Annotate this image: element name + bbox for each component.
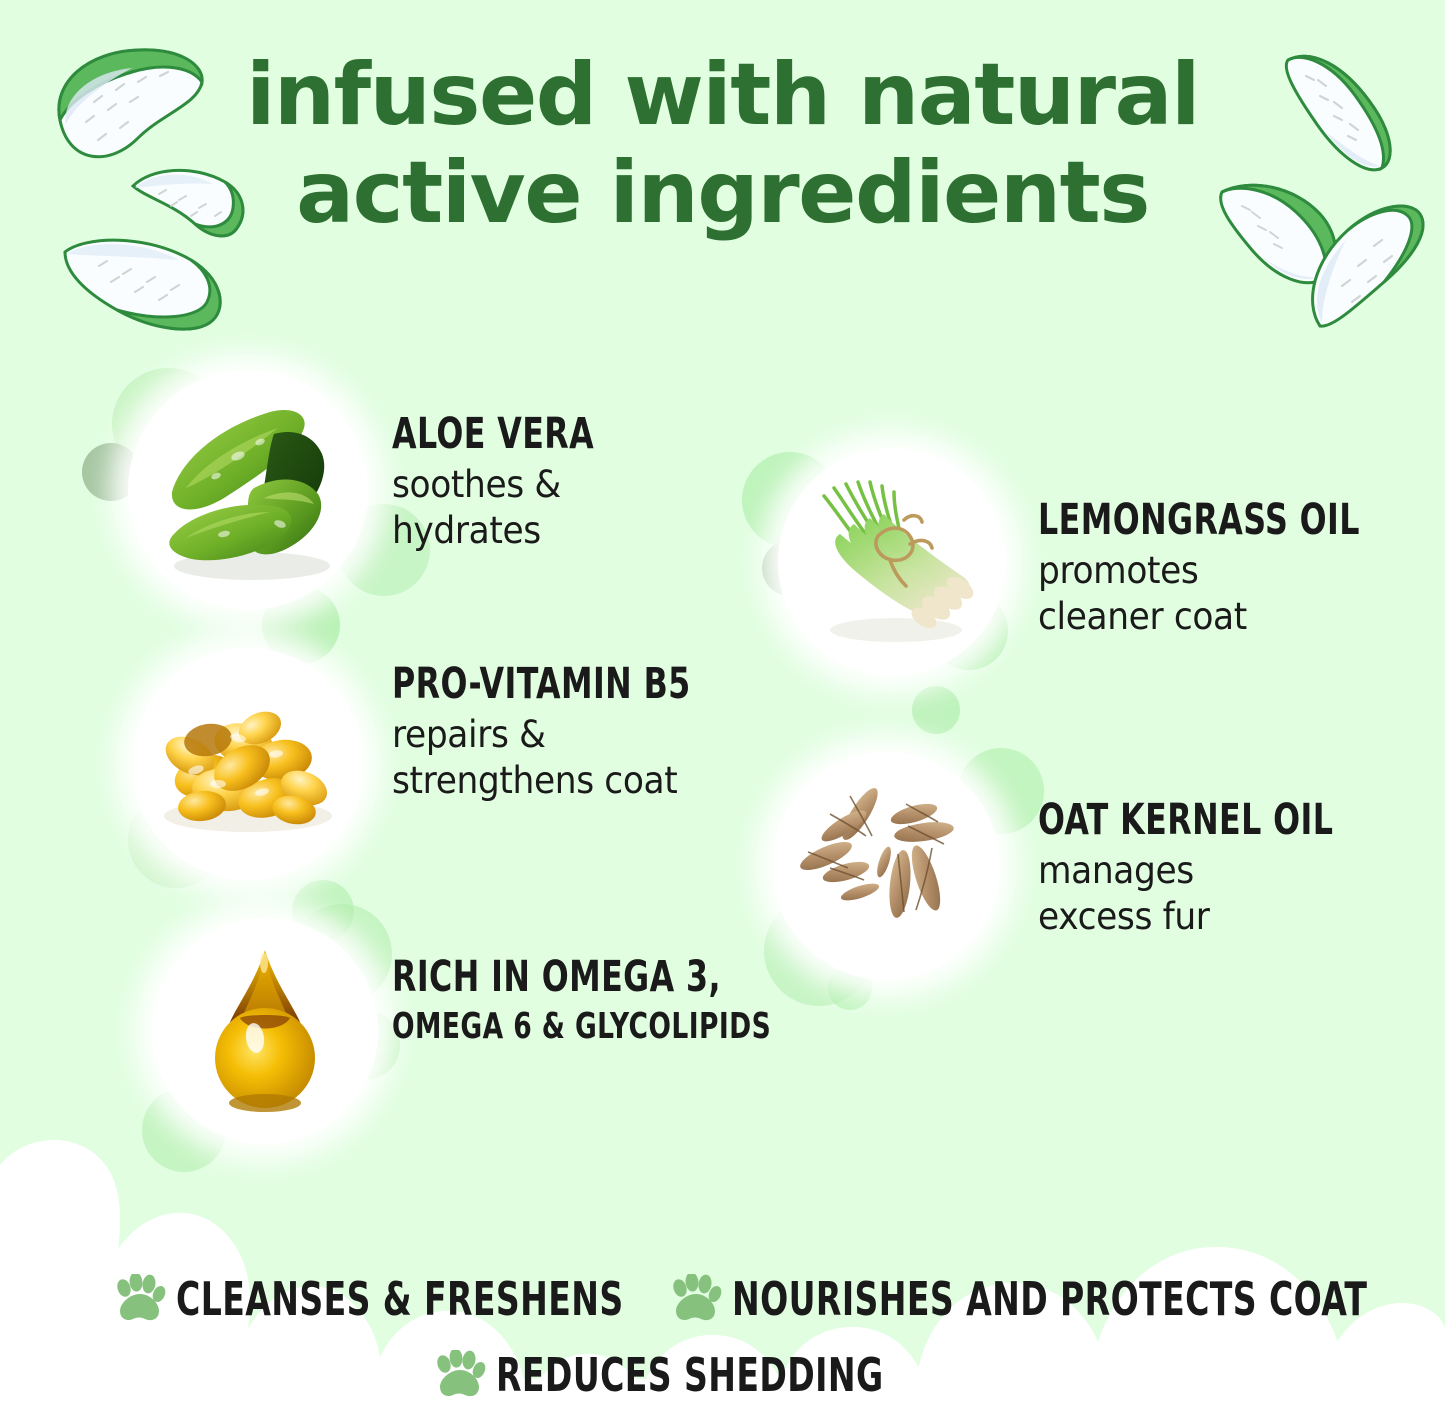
page-title: infused with natural active ingredients: [0, 46, 1445, 242]
aloe-slice-decoration: [55, 230, 230, 350]
ingredient-image-aloe-vera: [128, 370, 368, 610]
ingredient-text-pro-vitamin-b5: PRO-VITAMIN B5 repairs & strengthens coa…: [392, 662, 756, 804]
ingredient-title-line-2: OMEGA 6 & GLYCOLIPIDS: [392, 1008, 771, 1046]
paw-print-icon: [112, 1274, 166, 1324]
ingredient-desc-line-2: excess fur: [1038, 895, 1373, 939]
ingredient-text-lemongrass-oil: LEMONGRASS OIL promotes cleaner coat: [1038, 498, 1431, 640]
ingredient-desc-line-2: hydrates: [392, 509, 621, 553]
ingredient-image-pro-vitamin-b5: [132, 648, 364, 880]
ingredient-desc-line-2: cleaner coat: [1038, 595, 1403, 639]
ingredient-title: RICH IN OMEGA 3,: [392, 955, 771, 1000]
ingredient-text-aloe-vera: ALOE VERA soothes & hydrates: [392, 412, 638, 554]
benefit-nourishes: NOURISHES AND PROTECTS COAT: [668, 1272, 1445, 1326]
ingredient-image-lemongrass-oil: [778, 448, 1006, 676]
title-line-1: infused with natural: [0, 46, 1445, 144]
decor-circle: [912, 686, 960, 734]
title-line-2: active ingredients: [0, 144, 1445, 242]
benefit-label: REDUCES SHEDDING: [496, 1348, 884, 1402]
benefit-label: NOURISHES AND PROTECTS COAT: [732, 1272, 1367, 1326]
ingredient-text-omega: RICH IN OMEGA 3, OMEGA 6 & GLYCOLIPIDS: [392, 955, 854, 1046]
ingredient-image-oat-kernel-oil: [772, 752, 1000, 980]
ingredient-desc-line-1: repairs &: [392, 713, 731, 757]
benefit-cleanses: CLEANSES & FRESHENS: [112, 1272, 736, 1326]
ingredient-desc-line-1: promotes: [1038, 549, 1403, 593]
paw-print-icon: [668, 1274, 722, 1324]
benefit-shedding: REDUCES SHEDDING: [432, 1348, 980, 1402]
ingredient-title: PRO-VITAMIN B5: [392, 662, 691, 707]
ingredient-text-oat-kernel-oil: OAT KERNEL OIL manages excess fur: [1038, 798, 1398, 940]
benefit-label: CLEANSES & FRESHENS: [176, 1272, 624, 1326]
ingredient-desc-line-1: soothes &: [392, 463, 621, 507]
ingredient-desc-line-2: strengthens coat: [392, 759, 731, 803]
paw-print-icon: [432, 1350, 486, 1400]
ingredient-title: LEMONGRASS OIL: [1038, 498, 1360, 543]
ingredient-title: ALOE VERA: [392, 412, 594, 457]
ingredient-image-omega: [152, 918, 378, 1144]
ingredient-title: OAT KERNEL OIL: [1038, 798, 1333, 843]
ingredient-desc-line-1: manages: [1038, 849, 1373, 893]
infographic-canvas: infused with natural active ingredients: [0, 0, 1445, 1409]
